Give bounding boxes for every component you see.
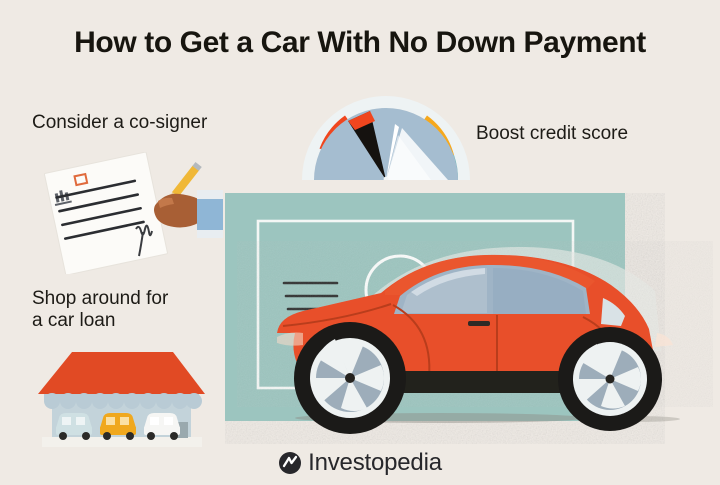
hand — [154, 194, 200, 228]
taillight — [655, 333, 673, 347]
car-scene: ¢ — [225, 193, 720, 458]
investopedia-wordmark: Investopedia — [308, 449, 442, 477]
page-title: How to Get a Car With No Down Payment — [0, 26, 720, 60]
label-consider-cosigner: Consider a co-signer — [32, 112, 207, 134]
door-handle — [468, 321, 490, 326]
car-scene-svg: ¢ — [225, 193, 720, 458]
rear-wheel — [558, 327, 662, 431]
front-wheel — [294, 322, 406, 434]
gauge-hub — [384, 177, 389, 182]
investopedia-mark-icon — [278, 451, 302, 475]
label-shop-around: Shop around for a car loan — [32, 288, 168, 333]
contract-signing-illustration — [38, 152, 238, 274]
investopedia-logo: Investopedia — [0, 449, 720, 480]
infographic-canvas: How to Get a Car With No Down Payment — [0, 0, 720, 485]
gauge-svg — [298, 88, 474, 184]
sleeve — [197, 190, 223, 238]
credit-score-gauge — [298, 88, 474, 184]
dealership-roof — [38, 352, 205, 394]
contract-paper — [44, 152, 167, 274]
dealership-svg — [34, 338, 209, 456]
contract-svg — [38, 152, 238, 274]
car-dealership-illustration — [34, 338, 209, 456]
label-boost-credit-score: Boost credit score — [476, 123, 628, 145]
